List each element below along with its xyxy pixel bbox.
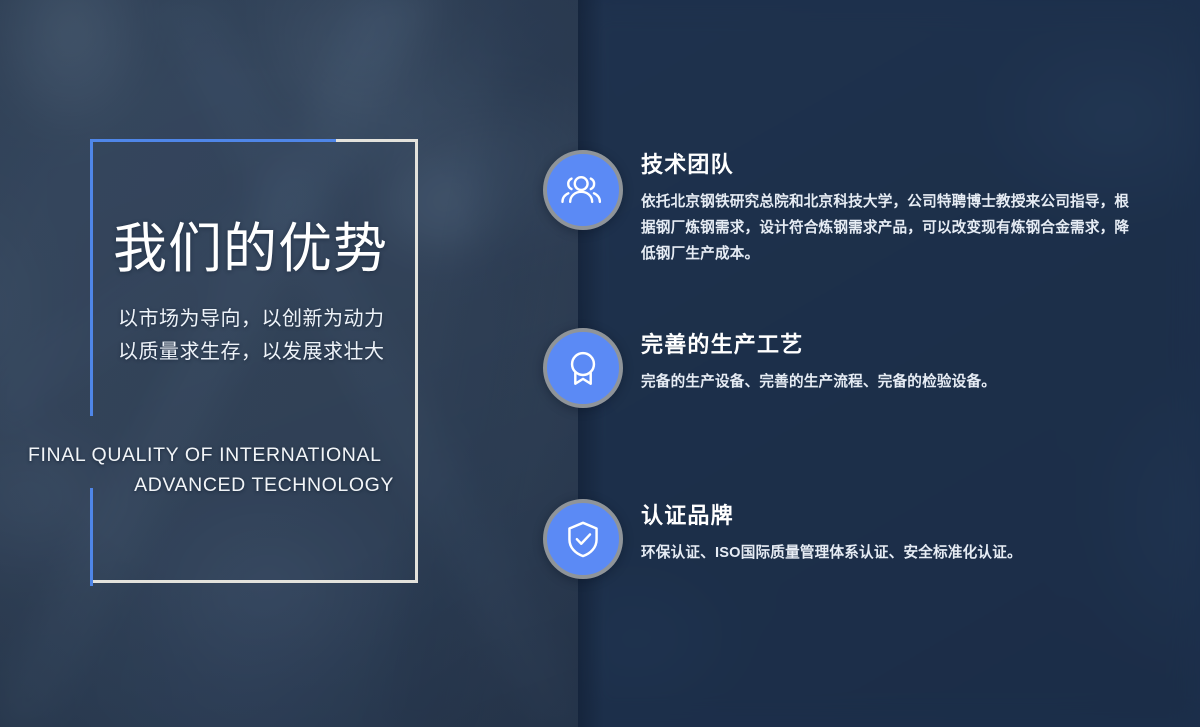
hero-frame-top-accent bbox=[90, 139, 336, 142]
people-group-icon bbox=[543, 150, 623, 230]
hero-english-line-1: FINAL QUALITY OF INTERNATIONAL bbox=[28, 440, 394, 470]
hero-frame-left-accent-upper bbox=[90, 139, 93, 416]
hero-english-subtitle: FINAL QUALITY OF INTERNATIONAL ADVANCED … bbox=[28, 440, 394, 500]
hero-english-line-2: ADVANCED TECHNOLOGY bbox=[28, 470, 394, 500]
feature-desc-3: 环保认证、ISO国际质量管理体系认证、安全标准化认证。 bbox=[641, 540, 1131, 566]
hero-slogan-line-1: 以市场为导向，以创新为动力 bbox=[118, 303, 418, 336]
hero-title: 我们的优势 bbox=[113, 222, 388, 276]
feature-desc-1: 依托北京钢铁研究总院和北京科技大学，公司特聘博士教授来公司指导，根据钢厂炼钢需求… bbox=[641, 189, 1131, 267]
feature-title-3: 认证品牌 bbox=[641, 503, 1131, 529]
advantages-section: 我们的优势 以市场为导向，以创新为动力 以质量求生存，以发展求壮大 FINAL … bbox=[0, 0, 1200, 727]
hero-frame-left-accent-lower bbox=[90, 488, 93, 586]
feature-text-3: 认证品牌 环保认证、ISO国际质量管理体系认证、安全标准化认证。 bbox=[641, 503, 1131, 566]
feature-text-2: 完善的生产工艺 完备的生产设备、完善的生产流程、完备的检验设备。 bbox=[641, 332, 1131, 395]
award-ribbon-icon bbox=[543, 328, 623, 408]
shield-check-icon bbox=[543, 499, 623, 579]
feature-text-1: 技术团队 依托北京钢铁研究总院和北京科技大学，公司特聘博士教授来公司指导，根据钢… bbox=[641, 152, 1131, 267]
hero-slogan: 以市场为导向，以创新为动力 以质量求生存，以发展求壮大 bbox=[118, 303, 418, 369]
hero-slogan-line-2: 以质量求生存，以发展求壮大 bbox=[118, 336, 418, 369]
feature-title-2: 完善的生产工艺 bbox=[641, 332, 1131, 358]
feature-desc-2: 完备的生产设备、完善的生产流程、完备的检验设备。 bbox=[641, 369, 1131, 395]
feature-title-1: 技术团队 bbox=[641, 152, 1131, 178]
